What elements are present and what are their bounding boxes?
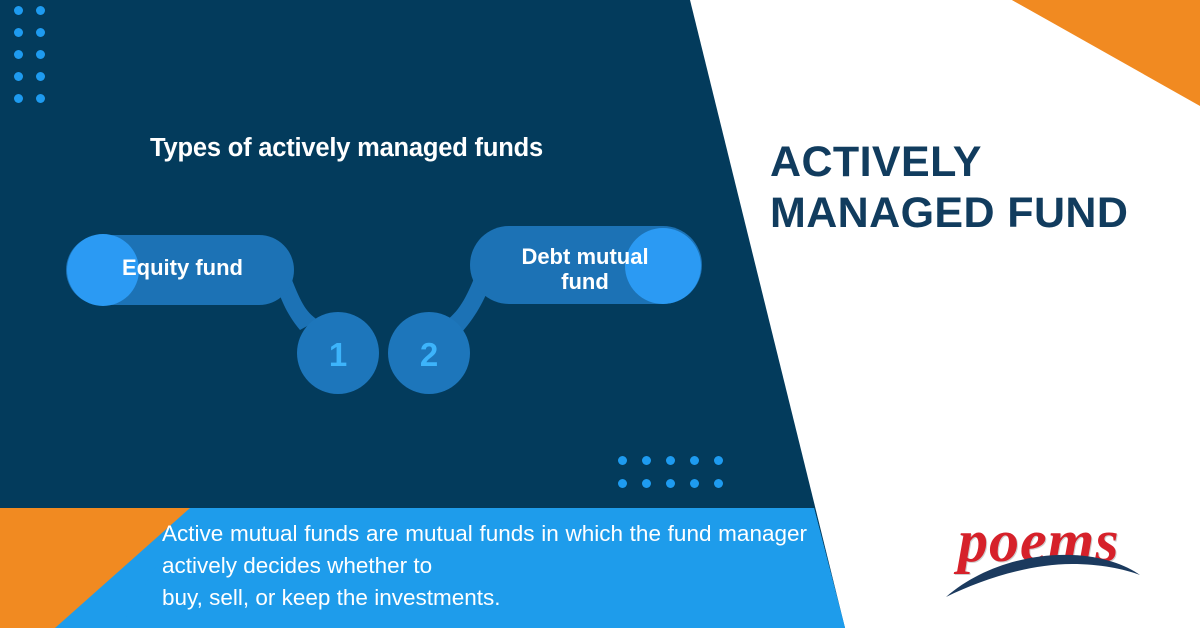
- dot-grid-bottom: [618, 456, 738, 502]
- pill-debt-accent-circle-icon: [625, 228, 701, 304]
- dot: [690, 456, 699, 465]
- process-diagram: [0, 0, 760, 430]
- logo-swoosh-icon: [940, 505, 1150, 605]
- infographic-canvas: Types of actively managed funds Equity f…: [0, 0, 1200, 628]
- step-circle-2[interactable]: [388, 312, 470, 394]
- dot: [666, 456, 675, 465]
- dot: [666, 479, 675, 488]
- dot: [618, 479, 627, 488]
- caption-body: Active mutual funds are mutual funds in …: [162, 521, 807, 578]
- poems-logo: poems: [940, 505, 1150, 605]
- pill-equity-accent-circle-icon: [67, 234, 139, 306]
- headline-line-1: ACTIVELY: [770, 137, 1190, 188]
- dot: [642, 479, 651, 488]
- dot: [714, 479, 723, 488]
- dot: [618, 456, 627, 465]
- headline-line-2: MANAGED FUND: [770, 188, 1190, 239]
- dot: [690, 479, 699, 488]
- page-title: ACTIVELY MANAGED FUND: [770, 137, 1190, 238]
- caption-text: Active mutual funds are mutual funds in …: [162, 518, 807, 614]
- dot: [642, 456, 651, 465]
- dot: [714, 456, 723, 465]
- step-circle-1[interactable]: [297, 312, 379, 394]
- caption-last-line: buy, sell, or keep the investments.: [162, 582, 807, 614]
